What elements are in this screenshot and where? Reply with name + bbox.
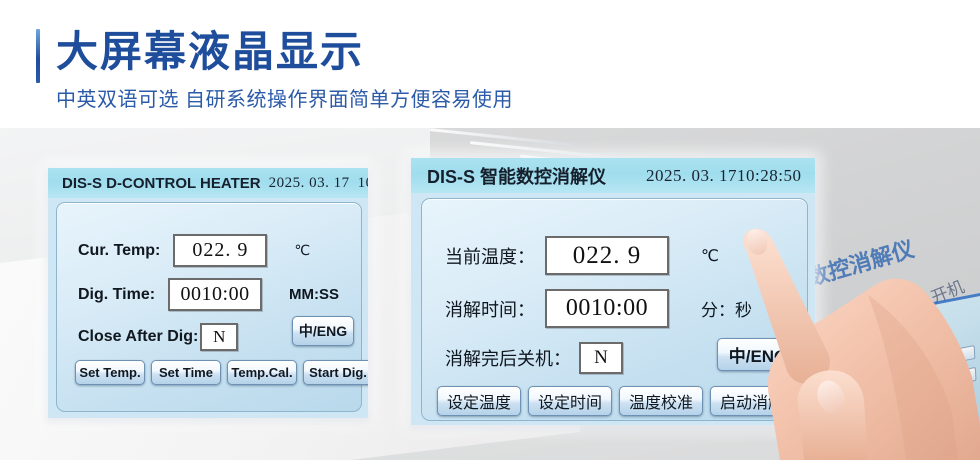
heading-band: 大屏幕液晶显示 中英双语可选 自研系统操作界面简单方便容易使用 [0, 0, 980, 128]
chinese-time: 10:28:50 [737, 166, 801, 186]
mini-time-field [827, 371, 876, 395]
digestion-time-unit-cn: 分：秒 [701, 296, 752, 321]
digestion-time-label-cn: 消解时间： [445, 296, 535, 322]
row-close-after-digestion: Close After Dig: N [78, 323, 238, 351]
current-temperature-field-cn[interactable]: 022. 9 [545, 236, 669, 275]
set-temperature-button[interactable]: Set Temp. [75, 360, 145, 385]
current-temperature-label-cn: 当前温度： [445, 243, 535, 269]
set-time-button-cn[interactable]: 设定时间 [528, 386, 612, 416]
temperature-calibration-button-cn[interactable]: 温度校准 [619, 386, 703, 416]
language-toggle-button[interactable]: 中/ENG [292, 316, 354, 346]
mini-temp-field [826, 349, 871, 372]
current-temperature-unit: ℃ [294, 242, 310, 259]
start-digestion-button[interactable]: Start Dig. [303, 360, 368, 385]
accent-bar [36, 29, 40, 83]
digestion-time-label: Dig. Time: [78, 286, 155, 304]
digestion-time-field-cn[interactable]: 0010:00 [545, 289, 669, 328]
page-title: 大屏幕液晶显示 [56, 26, 364, 78]
close-after-digestion-field-cn[interactable]: N [579, 342, 623, 374]
chinese-date: 2025. 03. 17 [646, 166, 737, 186]
close-after-digestion-field[interactable]: N [200, 323, 238, 351]
row-close-after-digestion-cn: 消解完后关机： N [445, 342, 623, 374]
start-digestion-button-cn[interactable]: 启动消解 [710, 386, 794, 416]
mini-lang-button [935, 345, 976, 367]
english-screen-header: DIS-S D-CONTROL HEATER 2025. 03. 17 10:2… [48, 168, 368, 198]
temperature-calibration-button[interactable]: Temp.Cal. [227, 360, 297, 385]
row-digestion-time: Dig. Time: 0010:00 MM:SS [78, 278, 339, 311]
chinese-control-screen[interactable]: DIS-S 智能数控消解仪 2025. 03. 17 10:28:50 当前温度… [411, 158, 815, 425]
page-subtitle: 中英双语可选 自研系统操作界面简单方便容易使用 [56, 86, 513, 114]
english-control-screen[interactable]: DIS-S D-CONTROL HEATER 2025. 03. 17 10:2… [48, 168, 368, 418]
mini-flag-field [880, 392, 897, 410]
row-digestion-time-cn: 消解时间： 0010:00 分：秒 [445, 289, 752, 328]
mini-button [936, 367, 977, 389]
mini-screen-timestamp: 2020. 08. 21 16:28:50 [825, 320, 900, 341]
close-after-digestion-label: Close After Dig: [78, 328, 198, 346]
english-time: 10:28:50 [358, 175, 368, 192]
current-temperature-label: Cur. Temp: [78, 242, 160, 260]
current-temperature-field[interactable]: 022. 9 [173, 234, 267, 267]
row-current-temperature: Cur. Temp: 022. 9 ℃ [78, 234, 310, 267]
close-after-digestion-label-cn: 消解完后关机： [445, 345, 571, 371]
mini-button [864, 419, 903, 439]
digestion-time-field[interactable]: 0010:00 [168, 278, 262, 311]
mini-button [905, 395, 944, 415]
current-temperature-unit-cn: ℃ [701, 246, 719, 266]
digestion-time-unit: MM:SS [289, 286, 339, 303]
english-date: 2025. 03. 17 [269, 175, 350, 192]
chinese-model-label: DIS-S 智能数控消解仪 [427, 163, 606, 189]
set-temperature-button-cn[interactable]: 设定温度 [437, 386, 521, 416]
language-toggle-button-cn[interactable]: 中/ENG [717, 338, 799, 371]
chinese-screen-header: DIS-S 智能数控消解仪 2025. 03. 17 10:28:50 [411, 158, 815, 193]
english-model-label: DIS-S D-CONTROL HEATER [62, 175, 261, 192]
row-current-temperature-cn: 当前温度： 022. 9 ℃ [445, 236, 719, 275]
set-time-button[interactable]: Set Time [151, 360, 221, 385]
